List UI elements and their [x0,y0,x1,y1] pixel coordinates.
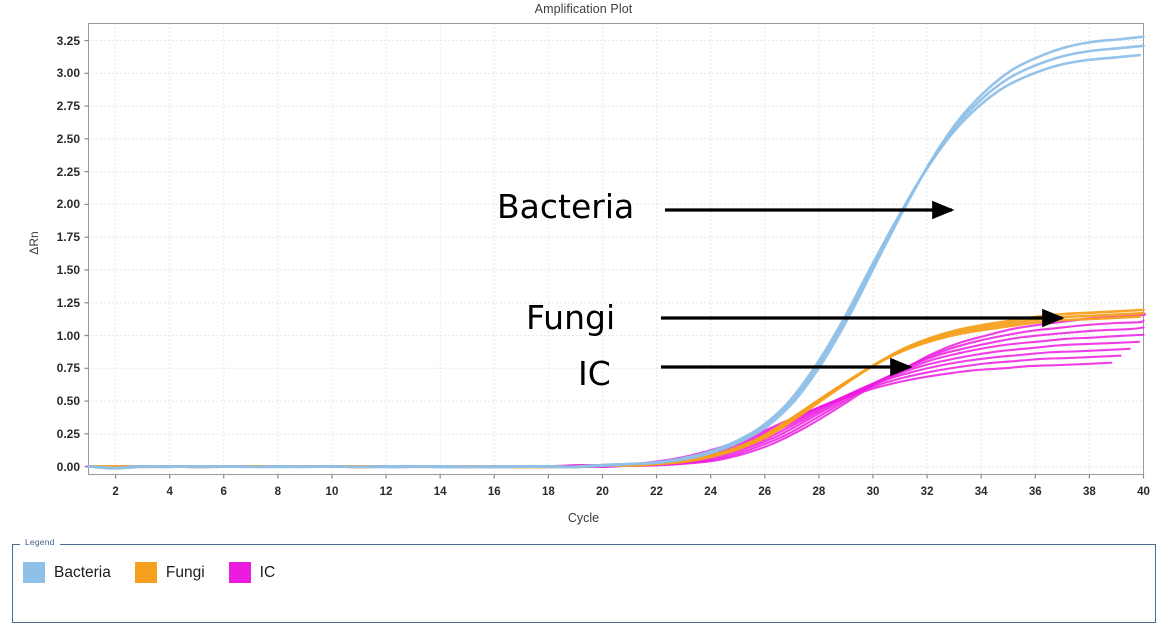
chart-panel: Amplification Plot ΔRn Cycle 0.000.250.5… [0,0,1167,535]
legend-entry-ic[interactable]: IC [229,562,276,583]
amplification-plot-screen: Amplification Plot ΔRn Cycle 0.000.250.5… [0,0,1167,633]
legend-entry-bacteria[interactable]: Bacteria [23,562,111,583]
plot-canvas [0,0,1167,535]
annotation-label-ic: IC [578,357,611,390]
series-line [92,310,1143,467]
series-line [93,335,1143,467]
legend-entry-fungi[interactable]: Fungi [135,562,205,583]
legend-label: IC [260,564,276,582]
legend-label: Fungi [166,564,205,582]
series-bacteria [89,37,1144,469]
legend-swatch-bacteria [23,562,45,583]
legend-items: BacteriaFungiIC [23,562,299,583]
series-line [121,313,1145,467]
legend-group-box [12,544,1156,623]
data-series [87,37,1145,469]
annotation-label-bacteria: Bacteria [497,190,634,223]
legend-label: Bacteria [54,564,111,582]
series-line [89,55,1140,468]
annotation-label-fungi: Fungi [526,301,615,334]
legend-swatch-ic [229,562,251,583]
series-fungi [89,310,1144,467]
legend-caption: Legend [20,537,60,547]
legend-swatch-fungi [135,562,157,583]
series-ic [87,313,1145,467]
series-line [89,46,1144,469]
